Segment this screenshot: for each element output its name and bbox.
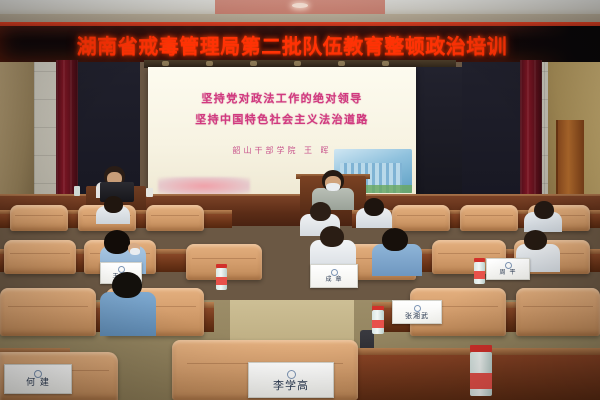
audience-head bbox=[112, 272, 142, 298]
chair bbox=[0, 288, 96, 336]
audience-head-long-hair bbox=[104, 230, 130, 254]
nameplate-text: 张湘武 bbox=[405, 313, 429, 320]
presenter-face-mask bbox=[326, 183, 340, 191]
audience-head bbox=[382, 228, 408, 251]
chair bbox=[146, 205, 204, 231]
audience-body bbox=[100, 292, 156, 336]
curtain-right bbox=[520, 60, 542, 212]
led-banner-text: 湖南省戒毒管理局第二批队伍教育整顿政治培训 bbox=[77, 30, 508, 59]
nameplate-text: 周 平 bbox=[500, 270, 517, 276]
audience-head bbox=[524, 230, 547, 250]
nameplate: 张湘武 bbox=[392, 300, 442, 324]
water-bottle bbox=[474, 262, 485, 284]
cup-left bbox=[74, 186, 80, 196]
audience-head bbox=[104, 196, 123, 213]
nameplate: 李学高 bbox=[248, 362, 334, 398]
led-banner-shadow bbox=[504, 26, 600, 62]
slide-title-line-1: 坚持党对政法工作的绝对领导 bbox=[158, 89, 406, 110]
chair bbox=[460, 205, 518, 231]
water-bottle bbox=[372, 310, 384, 334]
nameplate: 何 建 bbox=[4, 364, 72, 394]
chair bbox=[4, 240, 76, 274]
dark-wall-right bbox=[462, 62, 524, 212]
slide-decor bbox=[158, 177, 250, 195]
audience-face-mask bbox=[130, 248, 140, 255]
water-bottle bbox=[470, 352, 492, 396]
slide-content: 坚持党对政法工作的绝对领导 坚持中国特色社会主义法治道路 韶山干部学院 王 晖 bbox=[148, 67, 416, 195]
water-bottle bbox=[216, 268, 227, 290]
slide-title-line-2: 坚持中国特色社会主义法治道路 bbox=[158, 110, 406, 131]
audience-head bbox=[310, 202, 331, 221]
screen-side-shadow bbox=[416, 67, 462, 195]
audience-head bbox=[534, 201, 554, 219]
audience-head bbox=[364, 198, 384, 216]
chair bbox=[392, 205, 450, 231]
chair bbox=[10, 205, 68, 231]
cup-right bbox=[146, 188, 153, 197]
conference-hall-photo: 湖南省戒毒管理局第二批队伍教育整顿政治培训 坚持党对政法工作的绝对领导 坚持中国… bbox=[0, 0, 600, 400]
nameplate-text: 何 建 bbox=[26, 379, 50, 388]
chair bbox=[516, 288, 600, 336]
projection-screen: 坚持党对政法工作的绝对领导 坚持中国特色社会主义法治道路 韶山干部学院 王 晖 bbox=[148, 67, 416, 195]
audience-head bbox=[320, 226, 344, 247]
nameplate-text: 李学高 bbox=[273, 380, 309, 391]
ceiling-lamp bbox=[292, 3, 308, 8]
nameplate: 成 章 bbox=[310, 264, 358, 288]
nameplate: 周 平 bbox=[486, 258, 530, 280]
nameplate-text: 成 章 bbox=[326, 277, 343, 283]
